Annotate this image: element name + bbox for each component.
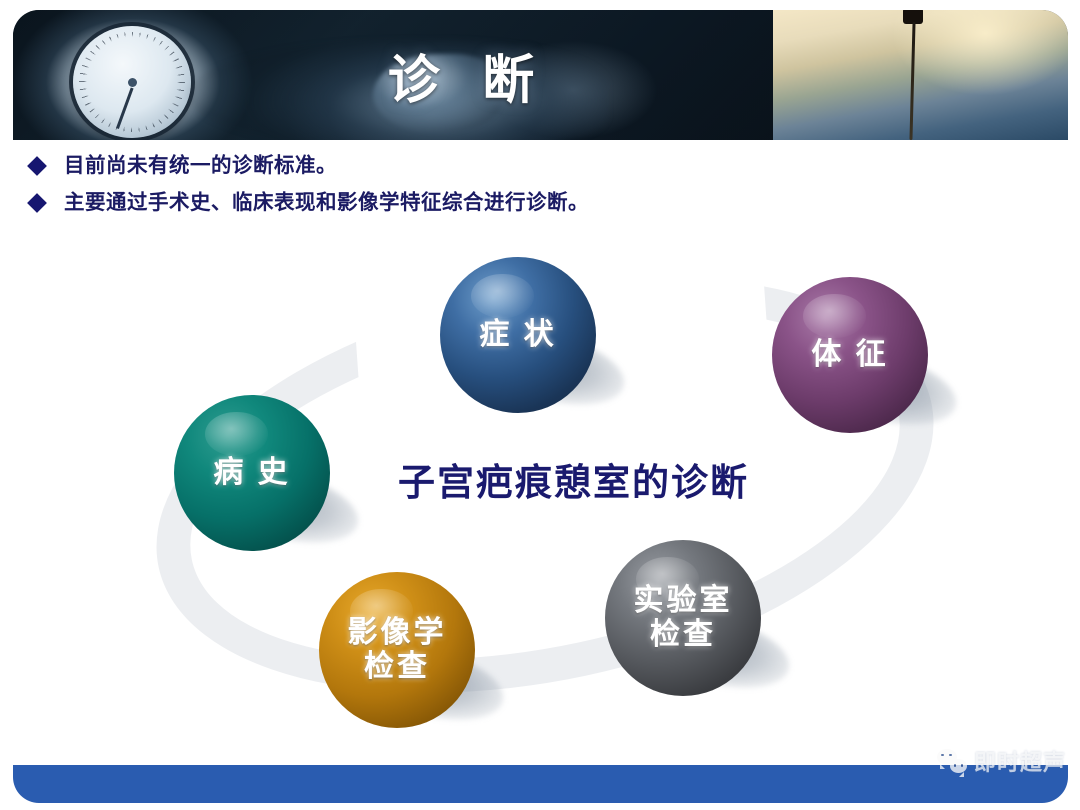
footer-bar xyxy=(13,765,1068,803)
node-label: 影像学 检查 xyxy=(348,616,447,683)
diagram-node-imaging[interactable]: 影像学 检查 xyxy=(319,572,475,728)
diagram-node-symptom[interactable]: 症 状 xyxy=(440,257,596,413)
slide-canvas: 诊 断 目前尚未有统一的诊断标准。 主要通过手术史、临床表现和影像学特征综合进行… xyxy=(0,0,1080,810)
diagram-node-sign[interactable]: 体 征 xyxy=(772,277,928,433)
iv-tube xyxy=(909,22,915,140)
sphere-history[interactable]: 病 史 xyxy=(174,395,330,551)
watermark-text: 即时超声 xyxy=(974,745,1066,777)
watermark: 即时超声 xyxy=(937,745,1066,777)
list-item: 目前尚未有统一的诊断标准。 xyxy=(30,156,1010,177)
sphere-symptom[interactable]: 症 状 xyxy=(440,257,596,413)
sphere-sign[interactable]: 体 征 xyxy=(772,277,928,433)
diagram-node-history[interactable]: 病 史 xyxy=(174,395,330,551)
iv-drip-photo xyxy=(773,10,1068,140)
page-title: 诊 断 xyxy=(13,10,773,140)
header-banner: 诊 断 xyxy=(13,10,1068,140)
list-item: 主要通过手术史、临床表现和影像学特征综合进行诊断。 xyxy=(30,193,1010,214)
bullet-text: 主要通过手术史、临床表现和影像学特征综合进行诊断。 xyxy=(64,193,589,214)
bullet-text: 目前尚未有统一的诊断标准。 xyxy=(64,156,337,177)
sphere-imaging[interactable]: 影像学 检查 xyxy=(319,572,475,728)
node-label: 症 状 xyxy=(479,318,556,352)
node-label: 病 史 xyxy=(213,456,290,490)
diagram-node-lab[interactable]: 实验室 检查 xyxy=(605,540,761,696)
sphere-lab[interactable]: 实验室 检查 xyxy=(605,540,761,696)
diamond-bullet-icon xyxy=(27,156,47,176)
diagram-center-label: 子宫疤痕憩室的诊断 xyxy=(398,452,749,506)
wechat-icon xyxy=(937,749,967,773)
node-label: 实验室 检查 xyxy=(634,584,733,651)
diagnosis-diagram: 子宫疤痕憩室的诊断 病 史 症 状 体 征 影像学 检查 xyxy=(0,230,1080,760)
node-label: 体 征 xyxy=(811,338,888,372)
diamond-bullet-icon xyxy=(27,193,47,213)
